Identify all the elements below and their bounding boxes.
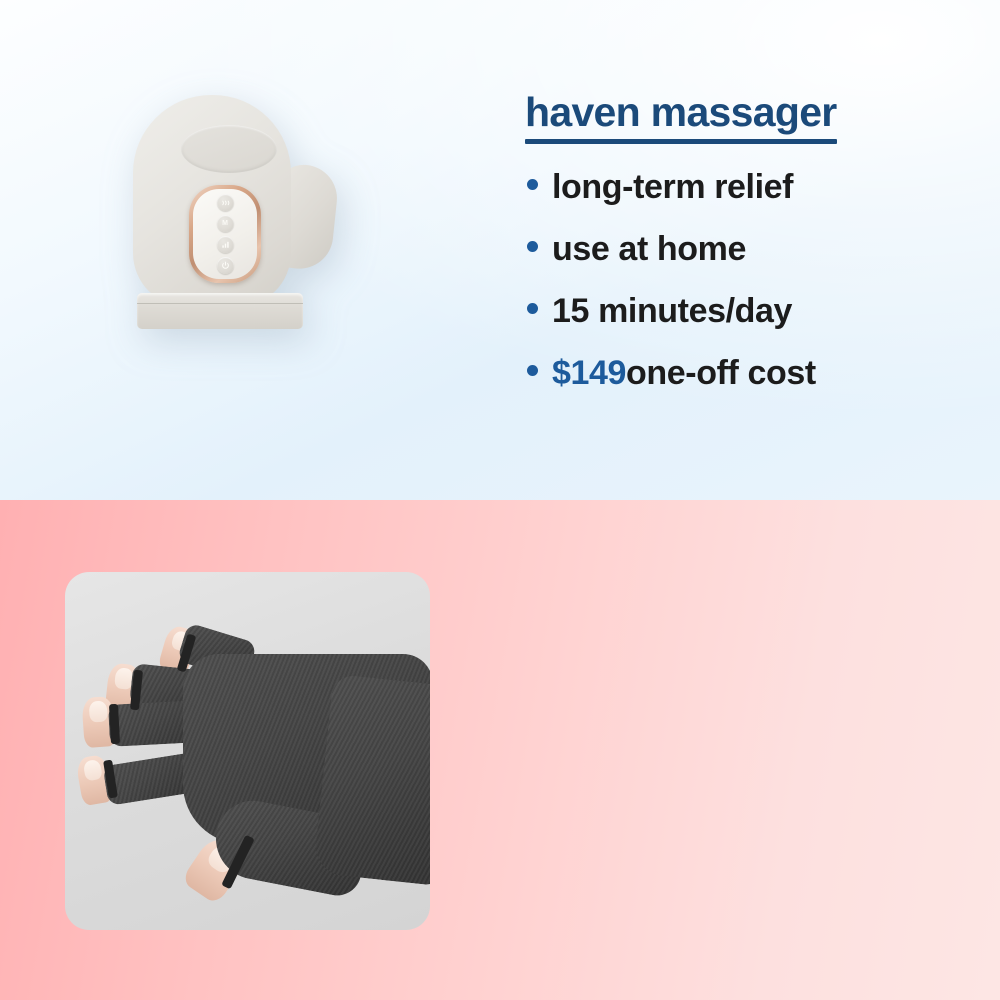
bullet-dot-icon (527, 365, 538, 376)
bullet-dot-icon (527, 179, 538, 190)
glove-wrist (313, 674, 430, 886)
product-comparison-board: M (0, 0, 1000, 1000)
haven-massager-mitt: M (115, 95, 335, 345)
compression-gloves-panel: compression gloves no active relief rest… (0, 500, 1000, 1000)
heat-waves-icon[interactable] (217, 194, 234, 211)
title-underline (525, 139, 837, 144)
power-icon[interactable] (217, 257, 234, 274)
list-item: use at home (527, 230, 816, 292)
control-pad-ring: M (189, 185, 261, 283)
bullet-dot-icon (527, 303, 538, 314)
haven-massager-title-text: haven massager (525, 89, 837, 135)
signal-bars-icon[interactable] (217, 236, 234, 253)
massager-benefit-list: long-term relief use at home 15 minutes/… (527, 168, 816, 416)
compression-glove-photo (65, 572, 430, 930)
mitt-body: M (133, 95, 291, 307)
control-pad: M (193, 189, 257, 279)
mitt-top-panel (181, 125, 277, 173)
massager-media-column: M (0, 0, 500, 500)
haven-massager-title: haven massager (525, 92, 837, 144)
list-item-label: one-off cost (626, 354, 816, 393)
glove-photo-content (65, 572, 430, 930)
list-item-label: 15 minutes/day (552, 292, 792, 331)
bullet-dot-icon (527, 241, 538, 252)
haven-massager-panel: M (0, 0, 1000, 500)
mitt-cuff (137, 293, 303, 329)
list-item: long-term relief (527, 168, 816, 230)
price-value: $149 (552, 354, 626, 393)
gloves-media-column (0, 500, 500, 1000)
list-item-label: use at home (552, 230, 746, 269)
mode-button-m-icon[interactable]: M (217, 215, 234, 232)
gloves-text-column: compression gloves no active relief rest… (500, 500, 1000, 1000)
list-item-label: long-term relief (552, 168, 793, 207)
massager-text-column: haven massager long-term relief use at h… (500, 0, 1000, 500)
list-item-price: $149 one-off cost (527, 354, 816, 416)
list-item: 15 minutes/day (527, 292, 816, 354)
